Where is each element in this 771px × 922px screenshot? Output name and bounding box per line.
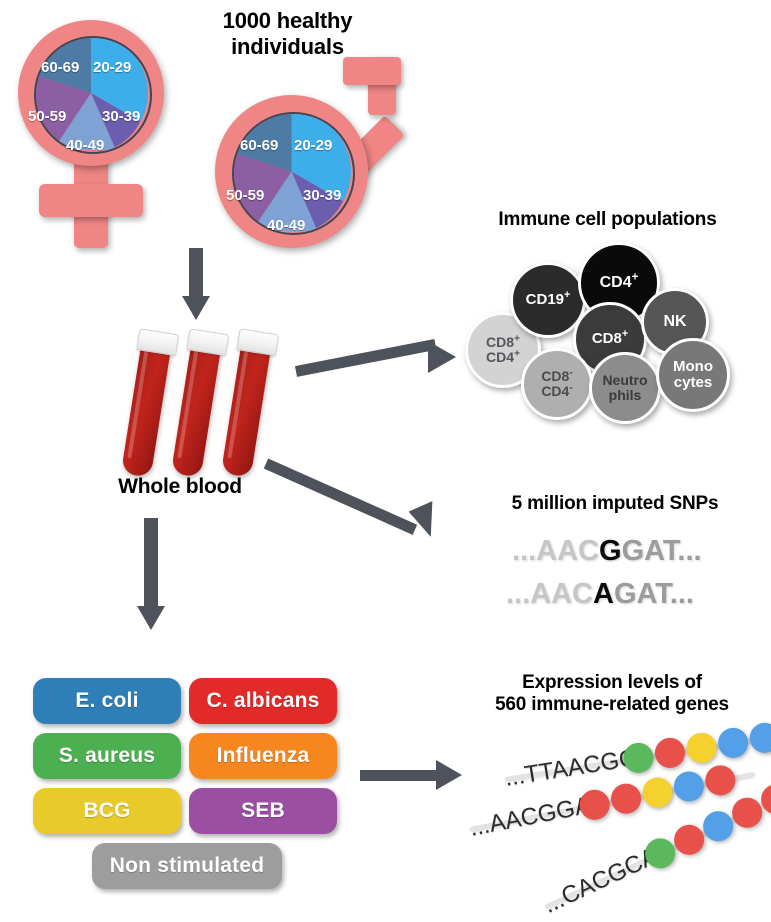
stimulus-label-influenza: Influenza <box>217 744 310 768</box>
immune-cell-cd8cd4-neg: CD8-CD4- <box>521 348 593 420</box>
arrow-blood-to-immune <box>296 330 466 380</box>
male-label-30-39: 30-39 <box>303 187 341 204</box>
female-label-40-49: 40-49 <box>66 137 104 154</box>
female-pie-svg <box>34 36 148 150</box>
male-label-50-59: 50-59 <box>226 187 264 204</box>
arrow-blood-to-snps <box>266 448 456 548</box>
cohort-heading: 1000 healthy individuals <box>180 8 395 60</box>
stimulus-label-bcg: BCG <box>83 799 130 823</box>
stimulus-label-s-aureus: S. aureus <box>59 744 155 768</box>
immune-cell-neutrophils: Neutrophils <box>589 352 661 424</box>
immune-cells-heading: Immune cell populations <box>455 209 760 231</box>
cell-label-cd4: CD4+ <box>600 275 639 292</box>
female-pie-slices <box>34 36 148 150</box>
cell-label-cd8: CD8+ <box>592 331 628 347</box>
gene-bead <box>671 769 706 804</box>
female-symbol: 60-69 20-29 50-59 30-39 40-49 <box>14 18 184 253</box>
stimulus-seb[interactable]: SEB <box>189 788 337 834</box>
snp-sequence-2: ...AACAGAT... <box>506 578 694 611</box>
arrow-stimuli-to-genes <box>360 757 470 797</box>
stimulus-label-e-coli: E. coli <box>75 689 138 713</box>
stimulus-influenza[interactable]: Influenza <box>189 733 337 779</box>
cell-label-cd8cd4-neg: CD8-CD4- <box>541 369 572 398</box>
stimulus-s-aureus[interactable]: S. aureus <box>33 733 181 779</box>
male-label-20-29: 20-29 <box>294 137 332 154</box>
snps-heading: 5 million imputed SNPs <box>470 493 760 515</box>
female-label-30-39: 30-39 <box>102 108 140 125</box>
snp-suffix-1: GAT... <box>622 535 702 567</box>
genes-heading: Expression levels of 560 immune-related … <box>462 672 762 717</box>
cell-label-monocytes: Monocytes <box>673 359 713 390</box>
stimulus-label-seb: SEB <box>241 799 285 823</box>
cell-label-nk: NK <box>663 314 686 331</box>
male-pie-slices <box>232 112 351 231</box>
arrow-cohort-to-blood <box>178 248 214 320</box>
gene-bead <box>653 736 687 770</box>
snp-suffix-2: GAT... <box>614 578 694 610</box>
snp-prefix-2: ...AAC <box>506 578 593 610</box>
snp-variant-1: G <box>599 535 622 567</box>
gene-bead <box>608 781 643 816</box>
gene-bead <box>684 731 718 765</box>
female-label-20-29: 20-29 <box>93 59 131 76</box>
male-pie-svg <box>232 112 351 231</box>
figure-canvas: 1000 healthy individuals 60-69 20-29 50-… <box>0 0 771 922</box>
snp-sequence-1: ...AACGGAT... <box>512 535 702 568</box>
gene-bead <box>748 721 771 755</box>
gene-bead <box>716 726 750 760</box>
immune-cell-cluster: CD8+CD4+ CD19+ CD4+ CD8+ NK CD8-CD4- Neu… <box>465 240 765 410</box>
snp-variant-2: A <box>593 578 614 610</box>
cell-label-cd19: CD19+ <box>526 292 571 308</box>
gene-bead <box>703 763 738 798</box>
stimulus-label-non-stimulated: Non stimulated <box>110 854 264 878</box>
arrow-blood-to-stimuli <box>133 518 169 638</box>
male-label-60-69: 60-69 <box>240 137 278 154</box>
male-arrowhead-horizontal <box>343 57 401 85</box>
immune-cell-monocytes: Monocytes <box>656 338 730 412</box>
female-crossbar <box>39 184 143 217</box>
male-label-40-49: 40-49 <box>267 217 305 234</box>
stimulus-label-c-albicans: C. albicans <box>206 689 319 713</box>
gene-bead <box>640 775 675 810</box>
stimulus-e-coli[interactable]: E. coli <box>33 678 181 724</box>
female-label-50-59: 50-59 <box>28 108 66 125</box>
male-symbol: 60-69 20-29 50-59 30-39 40-49 <box>205 55 410 250</box>
stimulus-c-albicans[interactable]: C. albicans <box>189 678 337 724</box>
cell-label-neutrophils: Neutrophils <box>602 373 647 402</box>
whole-blood-label: Whole blood <box>75 475 285 500</box>
snp-prefix-1: ...AAC <box>512 535 599 567</box>
stimuli-panel: E. coli C. albicans S. aureus Influenza … <box>33 678 333 898</box>
stimulus-non-stimulated[interactable]: Non stimulated <box>92 843 282 889</box>
cell-label-cd8cd4-pos: CD8+CD4+ <box>486 335 520 364</box>
stimulus-bcg[interactable]: BCG <box>33 788 181 834</box>
female-label-60-69: 60-69 <box>41 59 79 76</box>
